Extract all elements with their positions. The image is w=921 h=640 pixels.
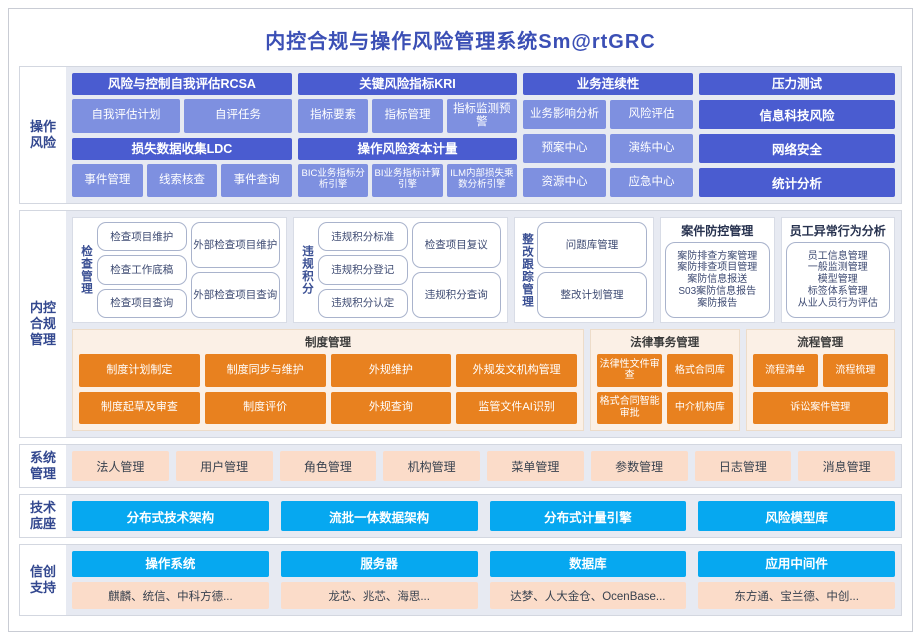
op-item[interactable]: 指标监测预警 <box>447 99 517 133</box>
ic-item[interactable]: 违规积分登记 <box>318 255 408 284</box>
xinchuang-column-database: 数据库 达梦、人大金仓、OcenBase... <box>490 551 687 609</box>
group-header-rcsa[interactable]: 风险与控制自我评估RCSA <box>72 73 292 95</box>
tech-item[interactable]: 分布式计量引擎 <box>490 501 687 531</box>
ic-item[interactable]: 外部检查项目查询 <box>191 272 281 318</box>
page-title: 内控合规与操作风险管理系统Sm@rtGRC <box>9 9 912 66</box>
legal-item[interactable]: 法律性文件审查 <box>597 354 662 387</box>
system-item[interactable]: 日志管理 <box>695 451 792 481</box>
section-body-tech-base: 分布式技术架构 流批一体数据架构 分布式计量引擎 风险模型库 <box>66 495 901 537</box>
panel-head-process-management: 流程管理 <box>753 334 889 350</box>
label-line-1: 内控 <box>30 300 56 316</box>
ic-item[interactable]: 检查项目复议 <box>412 222 502 268</box>
op-item[interactable]: 指标管理 <box>372 99 442 133</box>
ic-item[interactable]: 整改计划管理 <box>537 272 647 318</box>
op-module-network-security[interactable]: 网络安全 <box>699 134 895 163</box>
list-item[interactable]: 案防信息报送 <box>687 274 747 286</box>
op-item[interactable]: ILM内部损失乘数分析引擎 <box>447 164 517 198</box>
label-line-3: 管理 <box>30 332 56 348</box>
legal-item[interactable]: 中介机构库 <box>667 392 732 425</box>
panel-process-management: 流程管理 流程清单 流程梳理 诉讼案件管理 <box>746 329 896 431</box>
pill-column-a: 违规积分标准 违规积分登记 违规积分认定 <box>316 222 410 318</box>
system-item[interactable]: 菜单管理 <box>487 451 584 481</box>
group-header-continuity[interactable]: 业务连续性 <box>523 73 693 95</box>
ic-item[interactable]: 违规积分查询 <box>412 272 502 318</box>
ic-item[interactable]: 外部检查项目维护 <box>191 222 281 268</box>
group-rcsa: 风险与控制自我评估RCSA 自我评估计划 自评任务 <box>72 73 292 133</box>
group-header-ldc[interactable]: 损失数据收集LDC <box>72 138 292 160</box>
section-label-tech-base: 技术 底座 <box>20 495 66 537</box>
system-item[interactable]: 法人管理 <box>72 451 169 481</box>
group-kri: 关键风险指标KRI 指标要素 指标管理 指标监测预警 <box>298 73 517 133</box>
xinchuang-head[interactable]: 服务器 <box>281 551 478 577</box>
panel-case-prevention: 案件防控管理 案防排查方案管理 案防排查项目管理 案防信息报送 S03案防信息报… <box>660 217 775 323</box>
process-item[interactable]: 诉讼案件管理 <box>753 392 889 425</box>
op-item[interactable]: 业务影响分析 <box>523 100 606 129</box>
list-item[interactable]: 标签体系管理 <box>808 286 868 298</box>
panel-inspection-management: 检查管理 检查项目维护 检查工作底稿 检查项目查询 外部检查项目维护 外部检查项… <box>72 217 287 323</box>
tech-item[interactable]: 风险模型库 <box>698 501 895 531</box>
panel-employee-behavior: 员工异常行为分析 员工信息管理 一般监测管理 模型管理 标签体系管理 从业人员行… <box>781 217 896 323</box>
op-item[interactable]: 风险评估 <box>610 100 693 129</box>
list-item[interactable]: 从业人员行为评估 <box>798 298 878 310</box>
op-item[interactable]: 自评任务 <box>184 99 292 133</box>
panel-head-legal-affairs: 法律事务管理 <box>597 334 733 350</box>
ic-item[interactable]: 问题库管理 <box>537 222 647 268</box>
op-item[interactable]: 演练中心 <box>610 134 693 163</box>
panel-legal-affairs: 法律事务管理 法律性文件审查 格式合同库 格式合同智能审批 中介机构库 <box>590 329 740 431</box>
list-item[interactable]: S03案防信息报告 <box>678 286 756 298</box>
ic-item[interactable]: 检查项目查询 <box>97 289 187 318</box>
op-module-it-risk[interactable]: 信息科技风险 <box>699 100 895 129</box>
op-module-stress-test[interactable]: 压力测试 <box>699 73 895 95</box>
section-body-operational-risk: 风险与控制自我评估RCSA 自我评估计划 自评任务 损失数据收集LDC 事件管理… <box>66 67 901 203</box>
op-column-rcsa-ldc: 风险与控制自我评估RCSA 自我评估计划 自评任务 损失数据收集LDC 事件管理… <box>72 73 292 197</box>
ic-item[interactable]: 违规积分标准 <box>318 222 408 251</box>
system-item[interactable]: 角色管理 <box>280 451 377 481</box>
op-item[interactable]: 事件管理 <box>72 164 143 198</box>
op-item[interactable]: 资源中心 <box>523 168 606 197</box>
label-line-2: 管理 <box>30 466 56 482</box>
diagram-page: 内控合规与操作风险管理系统Sm@rtGRC 操作 风险 风险与控制自我评估RCS… <box>0 0 921 640</box>
ic-item[interactable]: 检查工作底稿 <box>97 255 187 284</box>
op-item[interactable]: BI业务指标计算引擎 <box>372 164 442 198</box>
section-body-xinchuang: 操作系统 麒麟、统信、中科方德... 服务器 龙芯、兆芯、海思... 数据库 达… <box>66 545 901 615</box>
op-item[interactable]: 事件查询 <box>221 164 292 198</box>
xinchuang-head[interactable]: 操作系统 <box>72 551 269 577</box>
xinchuang-column-os: 操作系统 麒麟、统信、中科方德... <box>72 551 269 609</box>
op-module-statistics[interactable]: 统计分析 <box>699 168 895 197</box>
label-line-2: 底座 <box>30 516 56 532</box>
legal-item[interactable]: 格式合同库 <box>667 354 732 387</box>
list-item[interactable]: 模型管理 <box>818 274 858 286</box>
xinchuang-head[interactable]: 数据库 <box>490 551 687 577</box>
list-item[interactable]: 员工信息管理 <box>808 251 868 263</box>
label-line-1: 信创 <box>30 564 56 580</box>
op-column-standalone: 压力测试 信息科技风险 网络安全 统计分析 <box>699 73 895 197</box>
list-item[interactable]: 案防报告 <box>697 298 737 310</box>
panel-head-employee-behavior: 员工异常行为分析 <box>786 222 891 239</box>
panel-label-inspection: 检查管理 <box>77 222 95 318</box>
panel-rectification-tracking: 整改跟踪管理 问题库管理 整改计划管理 <box>514 217 654 323</box>
label-line-2: 支持 <box>30 580 56 596</box>
employee-behavior-list[interactable]: 员工信息管理 一般监测管理 模型管理 标签体系管理 从业人员行为评估 <box>786 242 891 318</box>
section-body-internal-control: 检查管理 检查项目维护 检查工作底稿 检查项目查询 外部检查项目维护 外部检查项… <box>66 211 901 437</box>
label-line-2: 合规 <box>30 316 56 332</box>
xinchuang-vendors: 达梦、人大金仓、OcenBase... <box>490 582 687 609</box>
op-item[interactable]: 应急中心 <box>610 168 693 197</box>
op-column-kri-capital: 关键风险指标KRI 指标要素 指标管理 指标监测预警 操作风险资本计量 BIC业… <box>298 73 517 197</box>
section-tech-base: 技术 底座 分布式技术架构 流批一体数据架构 分布式计量引擎 风险模型库 <box>19 494 902 538</box>
case-prevention-list[interactable]: 案防排查方案管理 案防排查项目管理 案防信息报送 S03案防信息报告 案防报告 <box>665 242 770 318</box>
group-header-capital[interactable]: 操作风险资本计量 <box>298 138 517 160</box>
diagram-frame: 内控合规与操作风险管理系统Sm@rtGRC 操作 风险 风险与控制自我评估RCS… <box>8 8 913 632</box>
process-item[interactable]: 流程清单 <box>753 354 818 387</box>
op-item[interactable]: 自我评估计划 <box>72 99 180 133</box>
ic-item[interactable]: 检查项目维护 <box>97 222 187 251</box>
policy-item[interactable]: 制度评价 <box>205 392 326 425</box>
pill-column-b: 检查项目复议 违规积分查询 <box>410 222 504 318</box>
tech-item[interactable]: 流批一体数据架构 <box>281 501 478 531</box>
system-item[interactable]: 消息管理 <box>798 451 895 481</box>
tech-item[interactable]: 分布式技术架构 <box>72 501 269 531</box>
section-operational-risk: 操作 风险 风险与控制自我评估RCSA 自我评估计划 自评任务 损失数据收集 <box>19 66 902 204</box>
section-label-xinchuang: 信创 支持 <box>20 545 66 615</box>
xinchuang-vendors: 麒麟、统信、中科方德... <box>72 582 269 609</box>
xinchuang-column-server: 服务器 龙芯、兆芯、海思... <box>281 551 478 609</box>
xinchuang-column-middleware: 应用中间件 东方通、宝兰德、中创... <box>698 551 895 609</box>
list-item[interactable]: 案防排查方案管理 <box>677 251 757 263</box>
section-label-internal-control: 内控 合规 管理 <box>20 211 66 437</box>
pill-column-b: 外部检查项目维护 外部检查项目查询 <box>189 222 283 318</box>
system-item[interactable]: 机构管理 <box>383 451 480 481</box>
list-item[interactable]: 案防排查项目管理 <box>677 262 757 274</box>
panel-label-rectification: 整改跟踪管理 <box>519 222 535 318</box>
system-item[interactable]: 参数管理 <box>591 451 688 481</box>
op-item[interactable]: 线索核查 <box>147 164 218 198</box>
panel-policy-management: 制度管理 制度计划制定 制度同步与维护 外规维护 外规发文机构管理 制度起草及审… <box>72 329 584 431</box>
panel-head-case-prevention: 案件防控管理 <box>665 222 770 239</box>
policy-item[interactable]: 监管文件AI识别 <box>456 392 577 425</box>
section-label-operational-risk: 操作 风险 <box>20 67 66 203</box>
label-line-2: 风险 <box>30 135 56 151</box>
policy-item[interactable]: 制度计划制定 <box>79 354 200 387</box>
pill-column-a: 检查项目维护 检查工作底稿 检查项目查询 <box>95 222 189 318</box>
xinchuang-vendors: 龙芯、兆芯、海思... <box>281 582 478 609</box>
op-item[interactable]: 指标要素 <box>298 99 368 133</box>
section-label-system-management: 系统 管理 <box>20 445 66 487</box>
policy-item[interactable]: 外规查询 <box>331 392 452 425</box>
group-ldc: 损失数据收集LDC 事件管理 线索核查 事件查询 <box>72 138 292 198</box>
xinchuang-head[interactable]: 应用中间件 <box>698 551 895 577</box>
section-xinchuang-support: 信创 支持 操作系统 麒麟、统信、中科方德... 服务器 龙芯、兆芯、海思...… <box>19 544 902 616</box>
policy-item[interactable]: 外规发文机构管理 <box>456 354 577 387</box>
section-system-management: 系统 管理 法人管理 用户管理 角色管理 机构管理 菜单管理 参数管理 日志管理… <box>19 444 902 488</box>
panel-violation-points: 违规积分 违规积分标准 违规积分登记 违规积分认定 检查项目复议 违规积分查询 <box>293 217 508 323</box>
ic-item[interactable]: 违规积分认定 <box>318 289 408 318</box>
group-header-kri[interactable]: 关键风险指标KRI <box>298 73 517 95</box>
op-column-continuity: 业务连续性 业务影响分析 风险评估 预案中心 演练中心 资源中心 应急中心 <box>523 73 693 197</box>
label-line-1: 操作 <box>30 119 56 135</box>
policy-item[interactable]: 外规维护 <box>331 354 452 387</box>
group-capital: 操作风险资本计量 BIC业务指标分析引擎 BI业务指标计算引擎 ILM内部损失乘… <box>298 138 517 198</box>
panel-head-policy-management: 制度管理 <box>79 334 577 350</box>
label-line-1: 技术 <box>30 500 56 516</box>
section-body-system-management: 法人管理 用户管理 角色管理 机构管理 菜单管理 参数管理 日志管理 消息管理 <box>66 445 901 487</box>
xinchuang-vendors: 东方通、宝兰德、中创... <box>698 582 895 609</box>
section-internal-control: 内控 合规 管理 检查管理 检查项目维护 检查工作底稿 检查项目查询 外部检查项… <box>19 210 902 438</box>
op-item[interactable]: 预案中心 <box>523 134 606 163</box>
op-item[interactable]: BIC业务指标分析引擎 <box>298 164 368 198</box>
policy-item[interactable]: 制度起草及审查 <box>79 392 200 425</box>
policy-item[interactable]: 制度同步与维护 <box>205 354 326 387</box>
system-item[interactable]: 用户管理 <box>176 451 273 481</box>
pill-column-b: 问题库管理 整改计划管理 <box>535 222 649 318</box>
list-item[interactable]: 一般监测管理 <box>808 262 868 274</box>
process-item[interactable]: 流程梳理 <box>823 354 888 387</box>
label-line-1: 系统 <box>30 450 56 466</box>
panel-label-violation: 违规积分 <box>298 222 316 318</box>
legal-item[interactable]: 格式合同智能审批 <box>597 392 662 425</box>
